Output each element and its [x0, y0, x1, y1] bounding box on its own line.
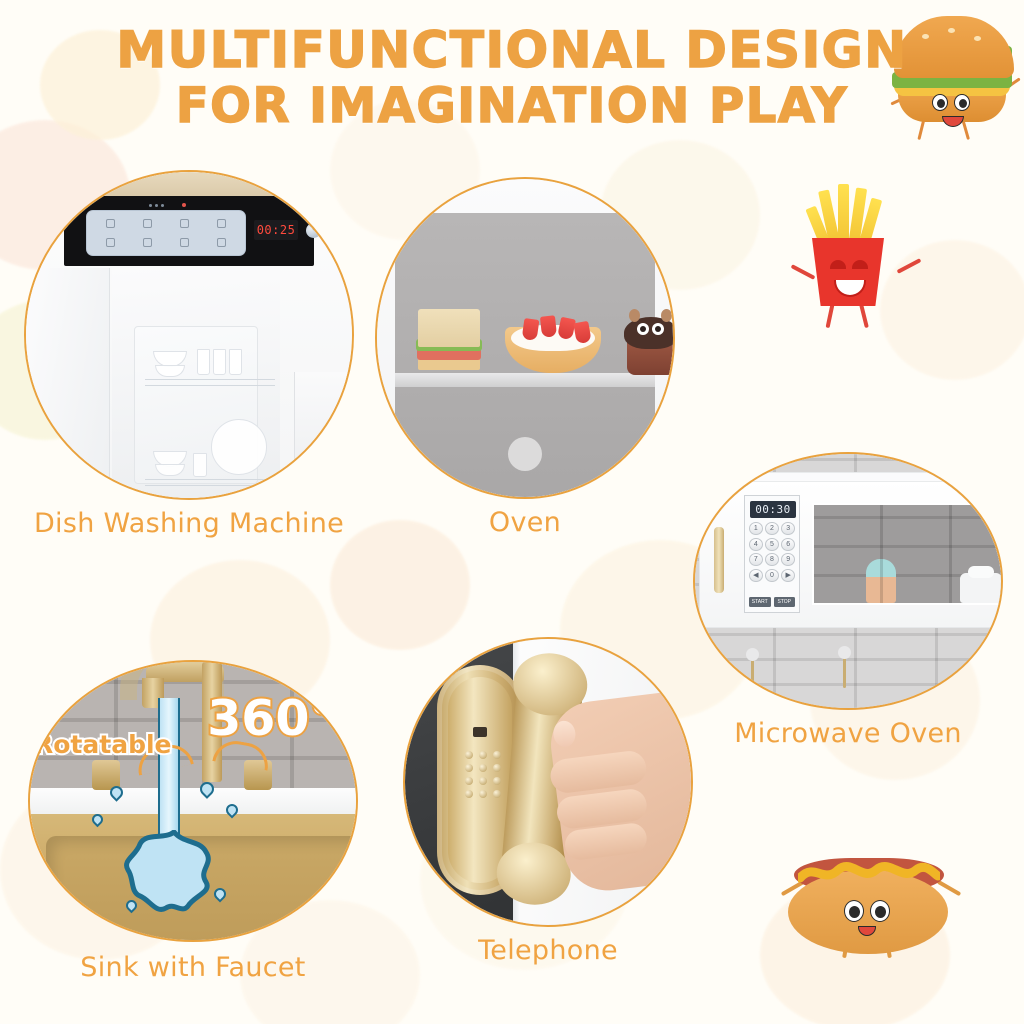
- dishwasher-program-icon[interactable]: [203, 215, 239, 233]
- oven-knob[interactable]: [508, 437, 542, 471]
- toy-cupcake: [623, 311, 673, 375]
- dishwasher-program-icon[interactable]: [167, 215, 203, 233]
- label-rotatable: Rotatable: [34, 730, 172, 759]
- microwave-key-1[interactable]: 1: [749, 522, 763, 535]
- hotdog-mascot: [786, 852, 956, 962]
- caption-oven: Oven: [375, 507, 675, 538]
- microwave-window: [812, 503, 1001, 605]
- microwave-stop-button[interactable]: STOP: [774, 597, 796, 607]
- microwave-keypad[interactable]: 1 2 3 4 5 6 7 8 9 ◀ 0 ▶: [749, 522, 795, 582]
- telephone-photo: [403, 637, 693, 927]
- dishwasher-program-icon[interactable]: [203, 234, 239, 252]
- microwave-door-handle[interactable]: [714, 527, 724, 593]
- dishwasher-control-panel[interactable]: 00:25 MID LOW: [64, 196, 314, 266]
- caption-sink: Sink with Faucet: [28, 952, 358, 983]
- wall-hook: [843, 654, 846, 688]
- microwave-key-6[interactable]: 6: [781, 538, 795, 551]
- dishwasher-photo: 00:25 MID LOW: [24, 170, 354, 500]
- caption-dishwasher: Dish Washing Machine: [24, 508, 354, 539]
- microwave-key-7[interactable]: 7: [749, 553, 763, 566]
- microwave-control-panel[interactable]: 00:30 1 2 3 4 5 6 7 8 9 ◀ 0: [744, 495, 800, 613]
- toy-cup: [866, 559, 896, 603]
- toy-pot: [960, 573, 1001, 603]
- hotdog-eye: [844, 900, 864, 922]
- dishwasher-program-icon[interactable]: [93, 234, 129, 252]
- telephone-slot: [473, 727, 487, 737]
- dishwasher-program-icon[interactable]: [93, 215, 129, 233]
- infographic-canvas: MULTIFUNCTIONAL DESIGN FOR IMAGINATION P…: [0, 0, 1024, 1024]
- microwave-key-2[interactable]: 2: [765, 522, 779, 535]
- microwave-start-button[interactable]: START: [749, 597, 771, 607]
- callout-sink[interactable]: Rotatable 360° Sink with Faucet: [28, 660, 358, 942]
- caption-telephone: Telephone: [403, 935, 693, 966]
- microwave-key-prev[interactable]: ◀: [749, 569, 763, 582]
- microwave-key-4[interactable]: 4: [749, 538, 763, 551]
- dishwasher-left-door[interactable]: [26, 268, 110, 498]
- callout-microwave[interactable]: 00:30 1 2 3 4 5 6 7 8 9 ◀ 0: [693, 452, 1003, 710]
- dishwasher-dial[interactable]: [306, 223, 321, 238]
- callout-telephone[interactable]: Telephone: [403, 637, 693, 927]
- hand-holding-handset: [546, 689, 691, 896]
- microwave-key-8[interactable]: 8: [765, 553, 779, 566]
- microwave-photo: 00:30 1 2 3 4 5 6 7 8 9 ◀ 0: [693, 452, 1003, 710]
- wall-hook: [751, 656, 754, 690]
- microwave-key-next[interactable]: ▶: [781, 569, 795, 582]
- dishwasher-timer-display: 00:25: [254, 220, 298, 240]
- dishwasher-window: [134, 326, 258, 484]
- label-360-degrees: 360°: [207, 690, 334, 747]
- microwave-timer-display: 00:30: [750, 501, 796, 518]
- microwave-key-9[interactable]: 9: [781, 553, 795, 566]
- toy-strawberry-tart: [505, 323, 605, 373]
- toy-sandwich: [415, 309, 483, 373]
- dishwasher-program-icon[interactable]: [130, 215, 166, 233]
- callout-dishwasher[interactable]: 00:25 MID LOW: [24, 170, 354, 500]
- dishwasher-side-shelf: [294, 372, 352, 498]
- callout-oven[interactable]: Oven: [375, 177, 675, 499]
- dishwasher-program-icon[interactable]: [130, 234, 166, 252]
- microwave-key-5[interactable]: 5: [765, 538, 779, 551]
- water-splash: [122, 830, 226, 914]
- microwave-body: 00:30 1 2 3 4 5 6 7 8 9 ◀ 0: [699, 480, 1001, 628]
- sink-photo: Rotatable 360°: [28, 660, 358, 942]
- hotdog-eye: [870, 900, 890, 922]
- dishwasher-button-cluster[interactable]: [86, 210, 246, 256]
- microwave-key-3[interactable]: 3: [781, 522, 795, 535]
- caption-microwave: Microwave Oven: [693, 718, 1003, 749]
- telephone-keypad[interactable]: [465, 751, 501, 798]
- page-title: MULTIFUNCTIONAL DESIGN FOR IMAGINATION P…: [0, 22, 1024, 134]
- title-line-1: MULTIFUNCTIONAL DESIGN: [0, 22, 1024, 78]
- dishwasher-power-button[interactable]: [330, 223, 345, 238]
- microwave-key-0[interactable]: 0: [765, 569, 779, 582]
- oven-photo: [375, 177, 675, 499]
- dishwasher-program-icon[interactable]: [167, 234, 203, 252]
- dishwasher-main-door[interactable]: [112, 268, 280, 498]
- title-line-2: FOR IMAGINATION PLAY: [0, 78, 1024, 134]
- oven-shelf: [395, 373, 655, 387]
- fries-mascot: [800, 192, 910, 328]
